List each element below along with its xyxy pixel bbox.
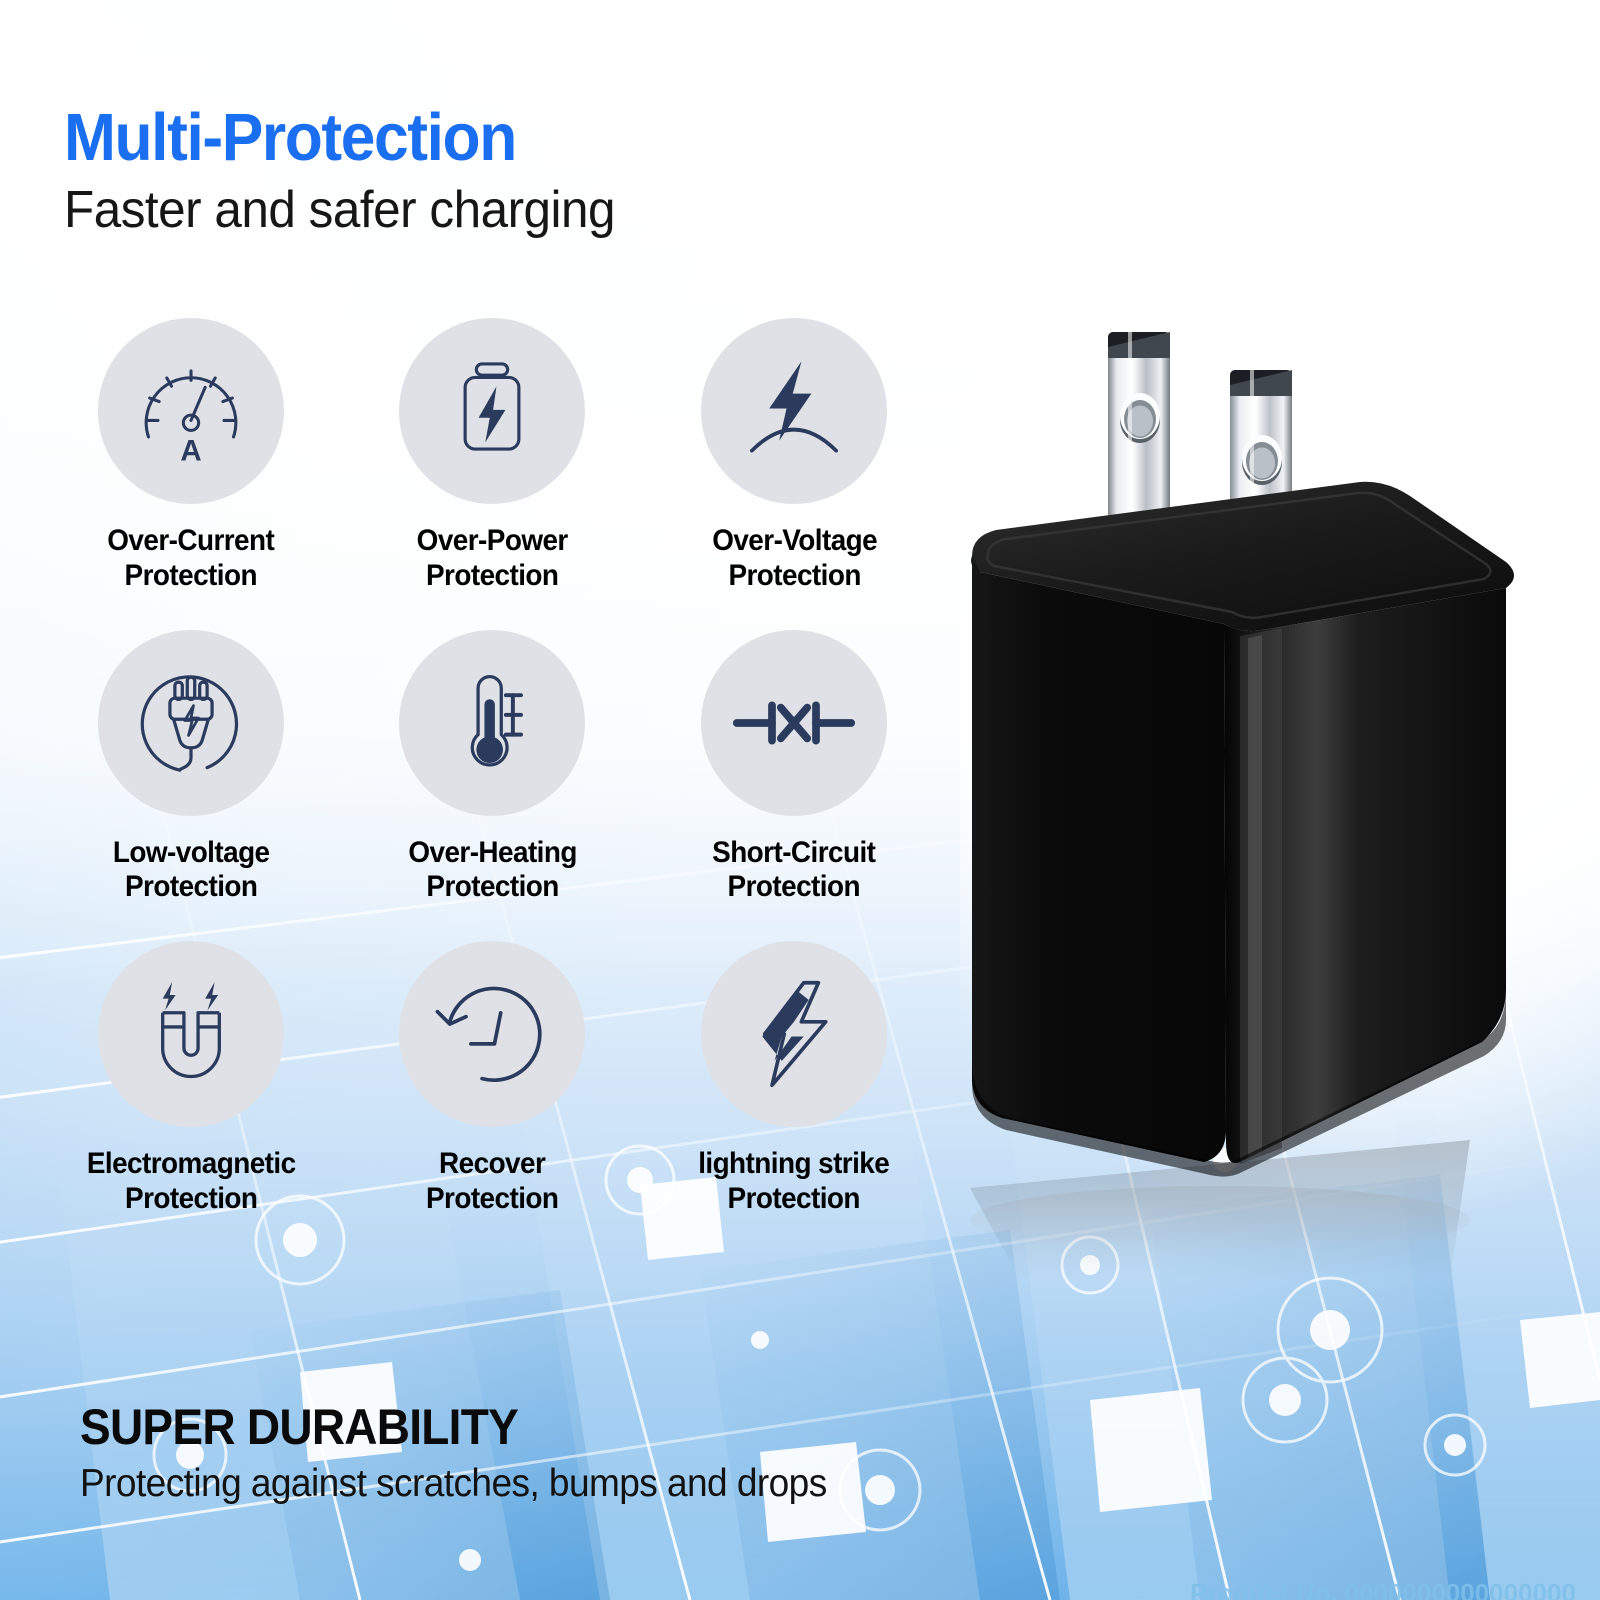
header-block: Multi-Protection Faster and safer chargi… bbox=[64, 104, 644, 238]
footer-title: SUPER DURABILITY bbox=[80, 1402, 803, 1452]
feature-over-current: A Over-Current Protection bbox=[40, 318, 342, 594]
feature-label: Over-Voltage Protection bbox=[712, 524, 877, 594]
feature-label: Electromagnetic Protection bbox=[86, 1147, 295, 1217]
feature-over-power: Over-Power Protection bbox=[342, 318, 644, 594]
thermometer-icon bbox=[434, 665, 550, 781]
ammeter-gauge-icon: A bbox=[132, 352, 250, 470]
feature-label-line1: Over-Power bbox=[417, 524, 568, 557]
feature-label-line2: Protection bbox=[426, 870, 558, 903]
feature-lightning-strike: lightning strike Protection bbox=[643, 941, 945, 1217]
clock-restore-icon bbox=[430, 972, 554, 1096]
feature-label-line1: Recover bbox=[439, 1147, 545, 1180]
feature-label-line2: Protection bbox=[125, 870, 257, 903]
double-bolt-icon bbox=[733, 973, 855, 1095]
product-code-text: Product No. 0000000000000000 bbox=[1190, 1578, 1576, 1600]
circuit-break-x-icon bbox=[728, 657, 860, 789]
svg-text:A: A bbox=[180, 435, 201, 468]
feature-label-line1: lightning strike bbox=[699, 1147, 890, 1180]
feature-label: Recover Protection bbox=[426, 1147, 558, 1217]
icon-badge bbox=[98, 941, 284, 1127]
feature-over-voltage: Over-Voltage Protection bbox=[643, 318, 945, 594]
feature-label-line2: Protection bbox=[728, 1182, 860, 1215]
feature-label-line2: Protection bbox=[426, 559, 558, 592]
feature-label-line1: Short-Circuit bbox=[713, 836, 876, 869]
feature-low-voltage: Low-voltage Protection bbox=[40, 630, 342, 906]
icon-badge bbox=[701, 318, 887, 504]
feature-label-line2: Protection bbox=[728, 559, 860, 592]
icon-badge: A bbox=[98, 318, 284, 504]
icon-badge bbox=[399, 630, 585, 816]
feature-label-line2: Protection bbox=[728, 870, 860, 903]
feature-label-line1: Over-Current bbox=[107, 524, 274, 557]
footer-subtitle: Protecting against scratches, bumps and … bbox=[80, 1464, 827, 1505]
feature-label: Over-Heating Protection bbox=[408, 836, 577, 906]
bolt-arc-icon bbox=[732, 349, 856, 473]
battery-bolt-icon bbox=[436, 355, 548, 467]
icon-badge bbox=[98, 630, 284, 816]
footer-block: SUPER DURABILITY Protecting against scra… bbox=[80, 1402, 866, 1505]
icon-badge bbox=[701, 630, 887, 816]
feature-label: Over-Current Protection bbox=[107, 524, 274, 594]
feature-label: Over-Power Protection bbox=[417, 524, 568, 594]
feature-over-heating: Over-Heating Protection bbox=[342, 630, 644, 906]
magnet-spark-icon bbox=[132, 975, 250, 1093]
plug-bolt-circle-icon bbox=[129, 661, 253, 785]
page-subtitle: Faster and safer charging bbox=[64, 183, 615, 238]
protection-features-grid: A Over-Current Protection Over-Power Pro… bbox=[40, 318, 945, 1217]
icon-badge bbox=[399, 941, 585, 1127]
charger-left-face bbox=[972, 556, 1226, 1162]
feature-label: Low-voltage Protection bbox=[113, 836, 270, 906]
feature-recover: Recover Protection bbox=[342, 941, 644, 1217]
product-reflection bbox=[970, 1140, 1470, 1280]
feature-label-line2: Protection bbox=[125, 1182, 257, 1215]
feature-label-line2: Protection bbox=[426, 1182, 558, 1215]
feature-electromagnetic: Electromagnetic Protection bbox=[40, 941, 342, 1217]
feature-label-line1: Electromagnetic bbox=[86, 1147, 295, 1180]
icon-badge bbox=[399, 318, 585, 504]
icon-badge bbox=[701, 941, 887, 1127]
feature-short-circuit: Short-Circuit Protection bbox=[643, 630, 945, 906]
feature-label-line2: Protection bbox=[125, 559, 257, 592]
charger-edge-highlight-2 bbox=[1248, 635, 1262, 1158]
usb-wall-charger-image bbox=[910, 300, 1580, 1300]
feature-label: Short-Circuit Protection bbox=[713, 836, 876, 906]
feature-label-line1: Over-Heating bbox=[408, 836, 577, 869]
feature-label: lightning strike Protection bbox=[699, 1147, 890, 1217]
page-title: Multi-Protection bbox=[64, 104, 603, 171]
feature-label-line1: Low-voltage bbox=[113, 836, 270, 869]
feature-label-line1: Over-Voltage bbox=[712, 524, 877, 557]
